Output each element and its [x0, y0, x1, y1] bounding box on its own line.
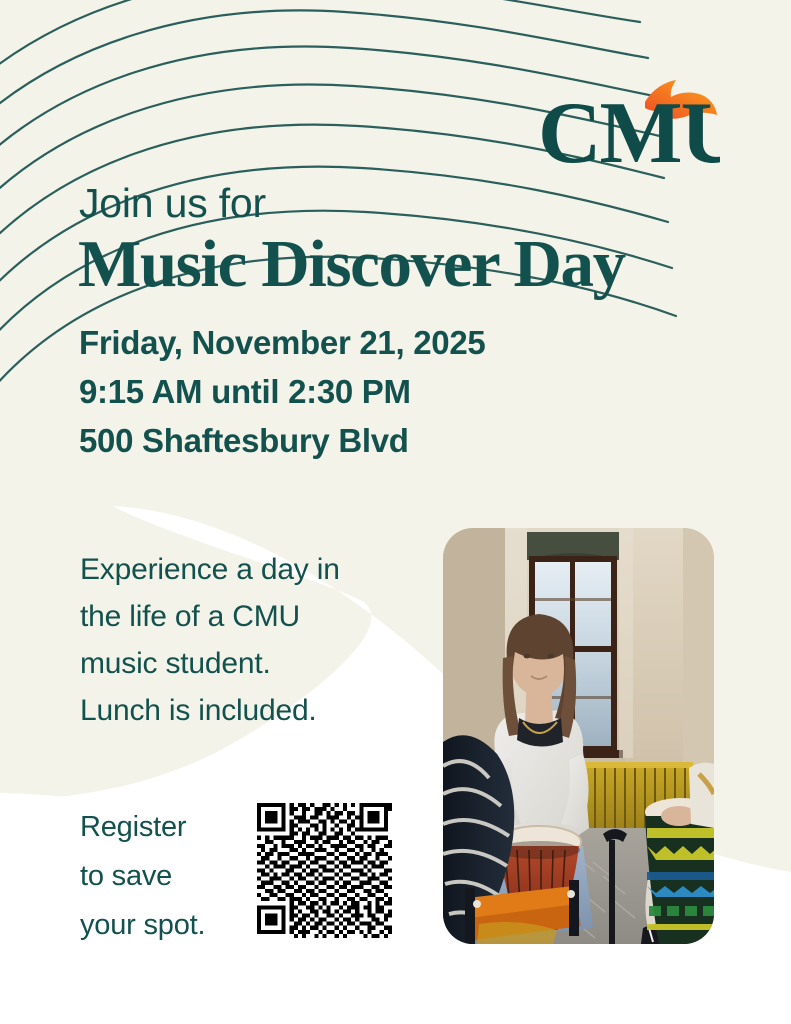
register-line-3: your spot. [80, 901, 205, 950]
register-line-1: Register [80, 803, 205, 852]
event-time: 9:15 AM until 2:30 PM [79, 367, 485, 416]
qr-code-image [257, 803, 392, 938]
description-line-3: music student. [80, 640, 340, 687]
page-title: Music Discover Day [78, 231, 625, 298]
event-address: 500 Shaftesbury Blvd [79, 416, 485, 465]
event-photo-image [443, 528, 714, 944]
kicker-text: Join us for [79, 183, 266, 224]
register-line-2: to save [80, 852, 205, 901]
qr-code[interactable] [257, 803, 392, 938]
cmu-logo: CMU [540, 72, 720, 172]
description-line-4: Lunch is included. [80, 687, 340, 734]
cmu-wordmark: CMU [540, 85, 720, 172]
poster-canvas: CMU Join us for Music Discover Day Frida… [0, 0, 791, 1024]
description-line-1: Experience a day in [80, 546, 340, 593]
event-photo [443, 528, 714, 944]
svg-text:CMU: CMU [540, 85, 720, 172]
description-line-2: the life of a CMU [80, 593, 340, 640]
event-details: Friday, November 21, 2025 9:15 AM until … [79, 318, 485, 465]
description-text: Experience a day in the life of a CMU mu… [80, 546, 340, 734]
register-cta-text: Register to save your spot. [80, 803, 205, 950]
event-date: Friday, November 21, 2025 [79, 318, 485, 367]
